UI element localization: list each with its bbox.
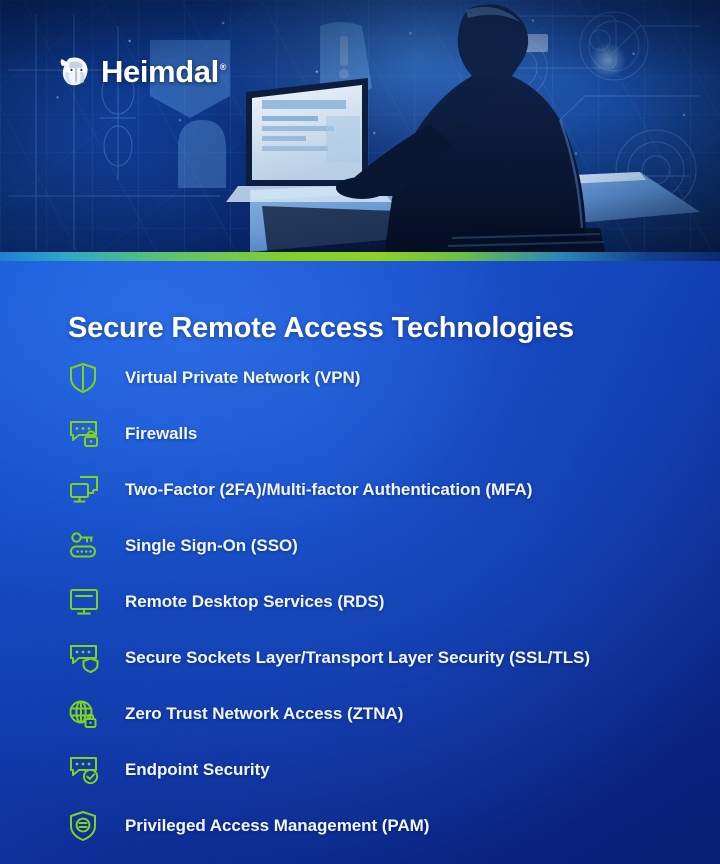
dual-monitor-icon <box>68 473 112 507</box>
firewall-lock-icon <box>68 417 112 451</box>
accent-divider <box>0 252 720 261</box>
brand-logo: Heimdal® <box>58 54 226 88</box>
monitor-icon <box>68 585 112 619</box>
list-item-label: Secure Sockets Layer/Transport Layer Sec… <box>125 648 590 668</box>
list-item[interactable]: Firewalls <box>68 406 688 462</box>
shield-access-icon <box>68 809 112 843</box>
list-item[interactable]: Zero Trust Network Access (ZTNA) <box>68 686 688 742</box>
list-item-label: Virtual Private Network (VPN) <box>125 368 360 388</box>
list-item-label: Single Sign-On (SSO) <box>125 536 298 556</box>
infographic-root: Heimdal® Secure Remote Access Technologi… <box>0 0 720 864</box>
hero-vignette <box>0 0 720 256</box>
list-item[interactable]: Two-Factor (2FA)/Multi-factor Authentica… <box>68 462 688 518</box>
list-item[interactable]: Remote Desktop Services (RDS) <box>68 574 688 630</box>
list-item-label: Zero Trust Network Access (ZTNA) <box>125 704 403 724</box>
list-item[interactable]: Endpoint Security <box>68 742 688 798</box>
trademark-symbol: ® <box>220 62 226 72</box>
message-shield-icon <box>68 641 112 675</box>
shield-vpn-icon <box>68 361 112 395</box>
list-item[interactable]: Single Sign-On (SSO) <box>68 518 688 574</box>
globe-lock-icon <box>68 697 112 731</box>
list-item[interactable]: Virtual Private Network (VPN) <box>68 350 688 406</box>
list-item-label: Two-Factor (2FA)/Multi-factor Authentica… <box>125 480 532 500</box>
viking-helmet-icon <box>58 54 92 88</box>
key-password-icon <box>68 529 112 563</box>
list-item-label: Privileged Access Management (PAM) <box>125 816 429 836</box>
page-title: Secure Remote Access Technologies <box>68 313 574 345</box>
list-item[interactable]: Privileged Access Management (PAM) <box>68 798 688 854</box>
message-check-icon <box>68 753 112 787</box>
list-item-label: Firewalls <box>125 424 197 444</box>
list-item[interactable]: Secure Sockets Layer/Transport Layer Sec… <box>68 630 688 686</box>
hero-image: Heimdal® <box>0 0 720 256</box>
content-panel: Secure Remote Access Technologies Virtua… <box>0 258 720 864</box>
list-item-label: Remote Desktop Services (RDS) <box>125 592 384 612</box>
technology-list: Virtual Private Network (VPN) Firewalls <box>68 350 688 854</box>
brand-wordmark: Heimdal® <box>101 56 226 87</box>
list-item-label: Endpoint Security <box>125 760 270 780</box>
